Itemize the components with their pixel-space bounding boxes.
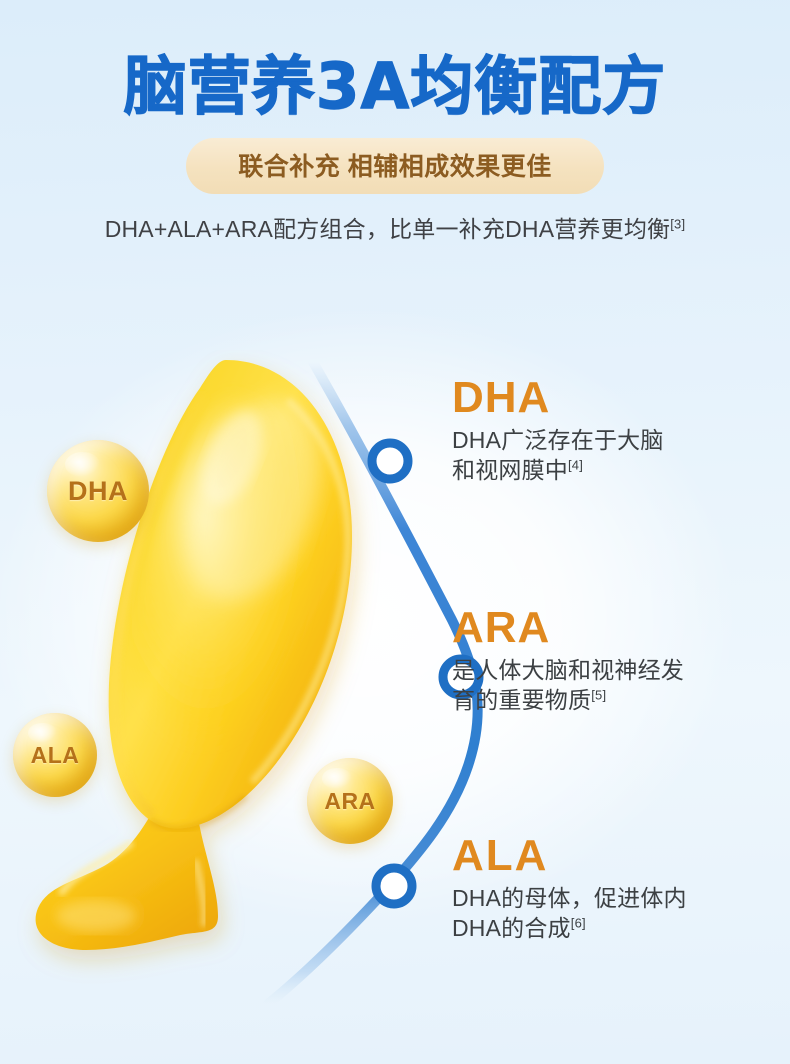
- bead-ara-label: ARA: [324, 788, 375, 815]
- lede-superscript: [3]: [670, 216, 685, 231]
- nutrient-ara-line2: 育的重要物质: [452, 687, 591, 713]
- nutrient-dha-line1: DHA广泛存在于大脑: [452, 427, 664, 453]
- bead-ara: ARA: [307, 758, 393, 844]
- bead-dha: DHA: [47, 440, 149, 542]
- poster-root: 脑营养3A均衡配方 联合补充 相辅相成效果更佳 DHA+ALA+ARA配方组合，…: [0, 0, 790, 1064]
- lede-text: DHA+ALA+ARA配方组合，比单一补充DHA营养更均衡: [105, 216, 671, 242]
- nutrient-dha-heading: DHA: [452, 376, 782, 420]
- page-title: 脑营养3A均衡配方: [0, 54, 790, 120]
- bead-dha-label: DHA: [68, 476, 128, 507]
- nutrient-item-ara: ARA 是人体大脑和视神经发 育的重要物质[5]: [452, 606, 782, 716]
- subtitle-pill-wrap: 联合补充 相辅相成效果更佳: [0, 138, 790, 194]
- nutrient-item-dha: DHA DHA广泛存在于大脑 和视网膜中[4]: [452, 376, 782, 486]
- bead-ala: ALA: [13, 713, 97, 797]
- lede-line: DHA+ALA+ARA配方组合，比单一补充DHA营养更均衡[3]: [0, 210, 790, 244]
- nutrient-ara-body: 是人体大脑和视神经发 育的重要物质[5]: [452, 656, 782, 716]
- header-block: 脑营养3A均衡配方 联合补充 相辅相成效果更佳 DHA+ALA+ARA配方组合，…: [0, 0, 790, 244]
- subtitle-badge: 联合补充 相辅相成效果更佳: [186, 138, 603, 194]
- nutrient-item-ala: ALA DHA的母体，促进体内 DHA的合成[6]: [452, 834, 782, 944]
- nutrient-ala-line1: DHA的母体，促进体内: [452, 885, 687, 911]
- nutrient-ala-body: DHA的母体，促进体内 DHA的合成[6]: [452, 884, 782, 944]
- nutrient-ara-line1: 是人体大脑和视神经发: [452, 657, 684, 683]
- nutrient-ala-heading: ALA: [452, 834, 782, 878]
- nutrient-ara-heading: ARA: [452, 606, 782, 650]
- nutrient-dha-body: DHA广泛存在于大脑 和视网膜中[4]: [452, 426, 782, 486]
- nutrient-ara-superscript: [5]: [591, 687, 606, 702]
- nutrient-dha-superscript: [4]: [568, 457, 583, 472]
- bead-ala-label: ALA: [31, 742, 80, 769]
- nutrient-ala-line2: DHA的合成: [452, 915, 571, 941]
- nutrient-dha-line2: 和视网膜中: [452, 457, 568, 483]
- nutrient-ala-superscript: [6]: [571, 915, 586, 930]
